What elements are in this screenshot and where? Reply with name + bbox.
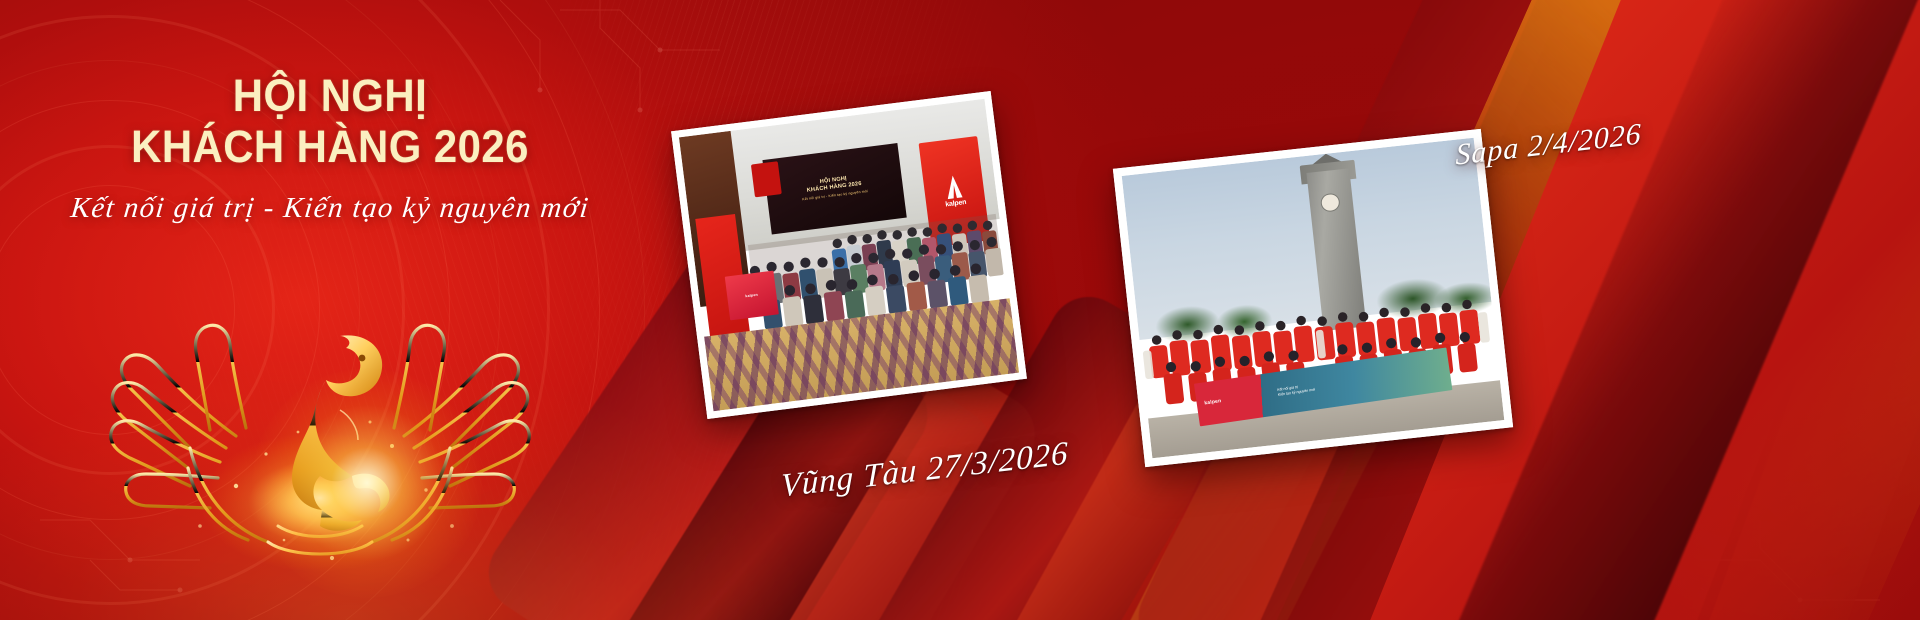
event-banner: HỘI NGHỊ KHÁCH HÀNG 2026 Kết nối giá trị… <box>0 0 1920 620</box>
standee-brand-label: kalpen <box>945 199 967 209</box>
photo-vung-tau[interactable]: HỘI NGHỊ KHÁCH HÀNG 2026 Kết nối giá trị… <box>671 91 1027 419</box>
banner-brand-label: kalpen <box>1204 399 1222 407</box>
page-title-line2: KHÁCH HÀNG 2026 <box>23 123 637 171</box>
page-title-line1: HỘI NGHỊ <box>23 72 637 120</box>
photo-kalpen-banner: kalpen <box>724 270 778 320</box>
golden-lotus-hands-emblem <box>40 240 600 580</box>
banner-slogan: Kết nối giá trị Kiến tạo kỷ nguyên mới <box>1277 383 1316 398</box>
photo-banner-label: kalpen <box>745 292 758 298</box>
headline-block: HỘI NGHỊ KHÁCH HÀNG 2026 Kết nối giá trị… <box>0 72 660 225</box>
headline-tagline: Kết nối giá trị - Kiến tạo kỷ nguyên mới <box>0 192 662 225</box>
emblem-core-glow <box>252 368 482 598</box>
photo-sapa[interactable]: kalpen Kết nối giá trị Kiến tạo kỷ nguyê… <box>1113 129 1513 467</box>
kalpen-mark-icon <box>945 175 963 200</box>
photo-stage-logo-badge <box>751 161 783 197</box>
